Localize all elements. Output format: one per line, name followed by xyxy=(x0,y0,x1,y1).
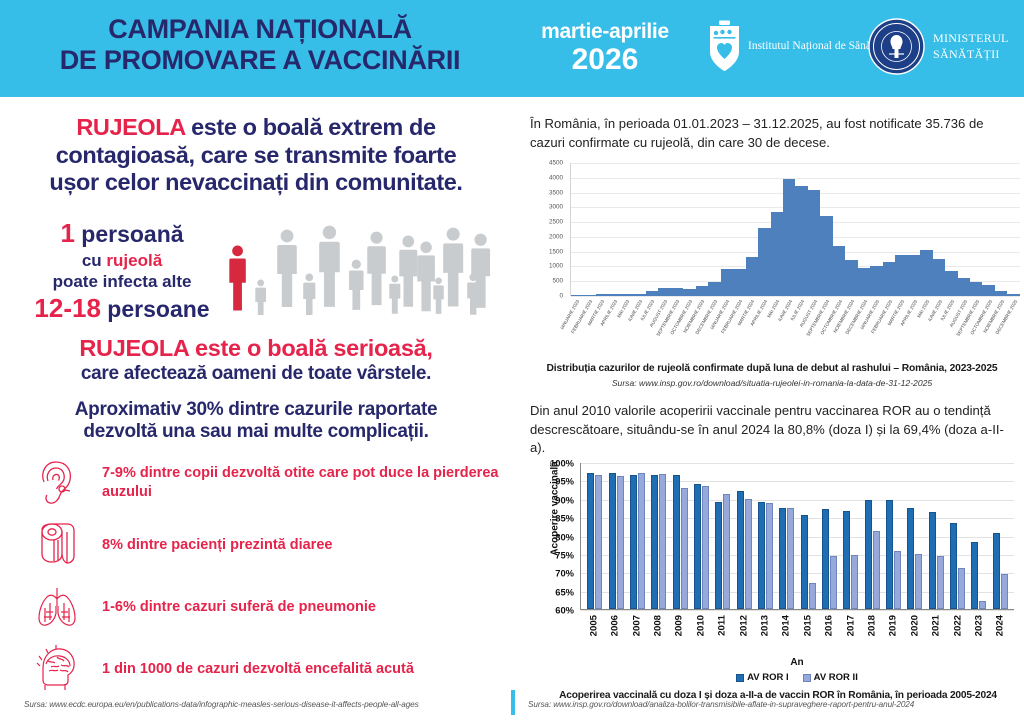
chart2-x-tick-label: 2022 xyxy=(952,615,963,636)
chart2-bar xyxy=(993,533,1000,609)
chart2-x-tick: 2010 xyxy=(690,613,711,655)
stat-with: cu xyxy=(82,251,107,270)
lead-rest: este o boală extrem de xyxy=(185,114,436,140)
toilet-paper-icon xyxy=(20,520,94,570)
chart1-bar xyxy=(571,295,583,296)
chart2-bar xyxy=(694,484,701,609)
chart2-bar xyxy=(617,476,624,609)
chart2-bar xyxy=(609,473,616,609)
chart2-x-tick: 2009 xyxy=(669,613,690,655)
chart2-bar xyxy=(971,542,978,609)
gridline xyxy=(571,296,1020,297)
chart2-x-tick: 2006 xyxy=(604,613,625,655)
chart2-x-tick: 2008 xyxy=(647,613,668,655)
chart2-bar xyxy=(979,601,986,609)
insp-logo-line2: Național de xyxy=(792,40,845,52)
chart1-x-tick: FEBRUARIE 2023 xyxy=(583,298,596,356)
chart1-bar xyxy=(721,269,733,296)
stat-disease: rujeolă xyxy=(106,251,162,270)
chart2-x-tick: 2023 xyxy=(968,613,989,655)
stat-number-one: 1 xyxy=(60,218,74,248)
chart1-bar xyxy=(870,266,882,296)
chart1-bar xyxy=(783,179,795,296)
chart2-bar-group xyxy=(627,463,648,609)
lungs-icon xyxy=(20,582,94,632)
chart2-bar-group xyxy=(669,463,690,609)
chart2-bar-group xyxy=(584,463,605,609)
chart2-bar xyxy=(787,508,794,609)
chart1-bar xyxy=(708,282,720,296)
chart2-bar-group xyxy=(712,463,733,609)
chart2-y-tick: 60% xyxy=(555,605,574,616)
legend-label: AV ROR I xyxy=(747,672,789,683)
chart2-x-tick-label: 2013 xyxy=(759,615,770,636)
chart1-x-tick: MARTIE 2024 xyxy=(745,298,758,356)
chart2-bar xyxy=(651,475,658,610)
crowd-illustration xyxy=(222,215,500,315)
chart2-bar-group xyxy=(648,463,669,609)
ministry-logo-text: MINISTERUL SĂNĂTĂȚII xyxy=(933,31,1009,62)
complication-text: 1-6% dintre cazuri suferă de pneumonie xyxy=(94,598,376,617)
chart1-bar xyxy=(895,255,907,296)
chart1-x-tick: FEBRUARIE 2024 xyxy=(733,298,746,356)
chart2-y-tick: 90% xyxy=(555,494,574,505)
chart1-y-tick: 1500 xyxy=(549,248,563,255)
chart2-bar xyxy=(937,556,944,609)
stat-line-2: cu rujeolă xyxy=(8,250,236,271)
stat-line-3: poate infecta alte xyxy=(8,271,236,292)
legend-swatch xyxy=(803,674,811,682)
chart1-x-tick: MAI 2023 xyxy=(620,298,633,356)
chart2-x-tick-label: 2014 xyxy=(781,615,792,636)
chart2-x-axis-title: An xyxy=(580,657,1014,668)
chart2-bar-group xyxy=(861,463,882,609)
chart1-y-tick: 2000 xyxy=(549,233,563,240)
serious-line3: Aproximativ 30% dintre cazurile raportat… xyxy=(14,399,498,422)
chart1-x-tick: MARTIE 2025 xyxy=(895,298,908,356)
chart2-bar xyxy=(865,500,872,609)
chart1-bar xyxy=(833,246,845,296)
chart2-plot-area xyxy=(580,463,1014,610)
chart2-x-tick: 2022 xyxy=(947,613,968,655)
chart1-bar xyxy=(883,262,895,296)
chart2-x-tick: 2024 xyxy=(990,613,1011,655)
list-item: 1-6% dintre cazuri suferă de pneumonie xyxy=(20,581,500,633)
chart1-plot-area xyxy=(570,163,1020,296)
chart2-x-tick-label: 2008 xyxy=(652,615,663,636)
chart1-x-tick: APRILIE 2023 xyxy=(608,298,621,356)
chart2-bar xyxy=(801,515,808,609)
chart1-bar xyxy=(771,212,783,296)
serious-line1: RUJEOLA este o boală serioasă, xyxy=(14,335,498,363)
complications-list: 7-9% dintre copii dezvoltă otite care po… xyxy=(20,457,500,705)
chart2-bar xyxy=(915,554,922,609)
chart2-y-tick: 85% xyxy=(555,513,574,524)
complication-text: 7-9% dintre copii dezvoltă otite care po… xyxy=(94,464,500,502)
chart1-x-tick: APRILIE 2025 xyxy=(908,298,921,356)
chart1-bar xyxy=(608,294,620,296)
chart1-y-tick: 1000 xyxy=(549,263,563,270)
left-source-note: Sursa: www.ecdc.europa.eu/en/publication… xyxy=(24,700,494,709)
chart2-bar xyxy=(587,473,594,609)
chart2-x-tick: 2017 xyxy=(840,613,861,655)
lead-line3: ușor celor nevaccinați din comunitate. xyxy=(14,169,498,197)
chart1-bar xyxy=(646,291,658,296)
chart2-bar xyxy=(950,523,957,609)
chart1-bar xyxy=(858,268,870,296)
chart1-bars xyxy=(571,163,1020,296)
chart2-bar xyxy=(737,491,744,609)
campaign-title-line1: CAMPANIA NAȚIONALĂ xyxy=(20,14,500,45)
chart2-x-tick-label: 2023 xyxy=(974,615,985,636)
chart2-bar-group xyxy=(968,463,989,609)
chart2-bar xyxy=(958,568,965,609)
chart1-bar xyxy=(933,259,945,296)
chart2-bar xyxy=(907,508,914,609)
chart2-x-tick-label: 2009 xyxy=(674,615,685,636)
government-seal-icon xyxy=(868,18,925,75)
chart2-bar xyxy=(766,503,773,609)
campaign-title: CAMPANIA NAȚIONALĂ DE PROMOVARE A VACCIN… xyxy=(20,14,500,77)
chart2-bar-groups xyxy=(581,463,1014,609)
chart1-x-tick: MARTIE 2023 xyxy=(595,298,608,356)
chart2-x-tick: 2014 xyxy=(776,613,797,655)
serious-line4: dezvoltă una sau mai multe complicații. xyxy=(14,421,498,444)
complication-text: 1 din 1000 de cazuri dezvoltă encefalită… xyxy=(94,660,414,679)
chart2-x-tick-label: 2018 xyxy=(866,615,877,636)
chart1-y-tick: 500 xyxy=(552,278,563,285)
chart1-source: Sursa: www.insp.gov.ro/download/situatia… xyxy=(522,378,1022,388)
chart1-bar xyxy=(808,190,820,296)
chart2-y-axis-labels: 60%65%70%75%80%85%90%95%100% xyxy=(530,459,576,610)
list-item: 1 din 1000 de cazuri dezvoltă encefalită… xyxy=(20,643,500,695)
chart2-bar-group xyxy=(691,463,712,609)
chart2-x-tick: 2005 xyxy=(583,613,604,655)
chart1-x-tick: IUNIE 2025 xyxy=(933,298,946,356)
insp-logo-line1: Institutul xyxy=(748,40,790,52)
chart1-y-tick: 2500 xyxy=(549,219,563,226)
chart1-bar xyxy=(671,288,683,296)
chart2-x-tick: 2021 xyxy=(926,613,947,655)
chart2-x-tick-label: 2007 xyxy=(631,615,642,636)
brain-head-icon xyxy=(20,644,94,694)
chart2-y-tick: 95% xyxy=(555,476,574,487)
chart1-bar xyxy=(633,294,645,296)
chart2-y-tick: 70% xyxy=(555,568,574,579)
campaign-period: martie-aprilie 2026 xyxy=(512,20,698,76)
chart2-x-tick-label: 2021 xyxy=(931,615,942,636)
chart2-bar xyxy=(886,500,893,609)
chart2-bar-group xyxy=(605,463,626,609)
lead-line2: contagioasă, care se transmite foarte xyxy=(14,142,498,170)
chart2-x-tick-label: 2019 xyxy=(888,615,899,636)
chart2-bar xyxy=(673,475,680,609)
chart2-y-tick: 75% xyxy=(555,549,574,560)
chart2-x-tick: 2012 xyxy=(733,613,754,655)
chart2-bar xyxy=(681,488,688,609)
chart2-bar xyxy=(873,531,880,609)
chart2-x-tick-label: 2017 xyxy=(845,615,856,636)
chart1-x-tick: IUNIE 2024 xyxy=(783,298,796,356)
chart1-x-axis-labels: IANUARIE 2023FEBRUARIE 2023MARTIE 2023AP… xyxy=(570,298,1020,356)
chart2-bar xyxy=(715,502,722,609)
chart2-bar xyxy=(758,502,765,609)
chart2-bar-group xyxy=(926,463,947,609)
ear-icon xyxy=(20,458,94,508)
chart1-x-tick: MAI 2025 xyxy=(920,298,933,356)
chart2-bar-group xyxy=(797,463,818,609)
chart2-x-tick-label: 2015 xyxy=(802,615,813,636)
serious-statement: RUJEOLA este o boală serioasă, care afec… xyxy=(14,335,498,444)
complication-text: 8% dintre pacienți prezintă diaree xyxy=(94,536,332,555)
chart2-x-tick-label: 2016 xyxy=(824,615,835,636)
legend-label: AV ROR II xyxy=(814,672,858,683)
chart2-bar xyxy=(745,499,752,609)
chart1-bar xyxy=(746,257,758,296)
legend-swatch xyxy=(736,674,744,682)
chart2-bar-group xyxy=(883,463,904,609)
chart1-x-tick: FEBRUARIE 2025 xyxy=(883,298,896,356)
chart1-bar xyxy=(596,294,608,296)
chart2-x-tick: 2019 xyxy=(883,613,904,655)
chart1-bar xyxy=(621,294,633,296)
list-item: 7-9% dintre copii dezvoltă otite care po… xyxy=(20,457,500,509)
chart1-bar xyxy=(758,228,770,296)
campaign-period-months: martie-aprilie xyxy=(512,20,698,43)
chart2-bar xyxy=(630,475,637,609)
right-source-note: Sursa: www.insp.gov.ro/download/analiza-… xyxy=(528,700,1018,709)
serious-line2: care afectează oameni de toate vârstele. xyxy=(14,363,498,386)
chart1-bar xyxy=(696,286,708,296)
chart2-bar xyxy=(702,486,709,609)
chart2-bar xyxy=(659,474,666,609)
header-banner: CAMPANIA NAȚIONALĂ DE PROMOVARE A VACCIN… xyxy=(0,0,1024,97)
chart2-x-tick-label: 2005 xyxy=(588,615,599,636)
chart2-bar xyxy=(638,473,645,609)
chart1-x-tick: IUNIE 2023 xyxy=(633,298,646,356)
chart1-bar xyxy=(995,291,1007,296)
chart1-bar xyxy=(658,288,670,296)
stat-line-4: 12-18 persoane xyxy=(8,293,236,324)
chart1-bar xyxy=(945,271,957,296)
chart2-bar-group xyxy=(947,463,968,609)
shield-icon xyxy=(708,19,741,74)
chart2-bar xyxy=(929,512,936,609)
chart2-bar-group xyxy=(840,463,861,609)
chart2-bar xyxy=(595,475,602,609)
chart1-bar xyxy=(908,255,920,296)
chart1-x-tick: MAI 2024 xyxy=(770,298,783,356)
left-column: RUJEOLA este o boală extrem de contagioa… xyxy=(0,97,512,724)
chart2-bar-group xyxy=(990,463,1011,609)
chart2-bar xyxy=(830,556,837,609)
chart2-bar xyxy=(723,494,730,609)
chart1-y-tick: 4000 xyxy=(549,174,563,181)
chart2-bar-group xyxy=(733,463,754,609)
chart1-y-tick: 3000 xyxy=(549,204,563,211)
right-column: În România, în perioada 01.01.2023 – 31.… xyxy=(512,97,1024,724)
chart2-bar-group xyxy=(776,463,797,609)
stat-line-1: 1 persoană xyxy=(8,219,236,249)
chart1-y-tick: 4500 xyxy=(549,160,563,167)
ministry-logo-line2: SĂNĂTĂȚII xyxy=(933,47,1009,63)
chart2-legend: AV ROR IAV ROR II xyxy=(580,672,1014,683)
stat-number-range: 12-18 xyxy=(34,293,101,323)
measles-monthly-chart: 050010001500200025003000350040004500 IAN… xyxy=(522,159,1022,359)
coverage-intro-text: Din anul 2010 valorile acoperirii vaccin… xyxy=(530,402,1008,458)
chart2-bar-group xyxy=(819,463,840,609)
ror-coverage-chart: Acoperire vaccinală 60%65%70%75%80%85%90… xyxy=(522,459,1022,709)
chart1-bar xyxy=(970,282,982,296)
chart2-y-tick: 80% xyxy=(555,531,574,542)
transmission-stat: 1 persoană cu rujeolă poate infecta alte… xyxy=(8,219,236,325)
chart1-bar xyxy=(583,295,595,296)
chart2-x-tick-label: 2011 xyxy=(717,615,728,636)
infographic-page: CAMPANIA NAȚIONALĂ DE PROMOVARE A VACCIN… xyxy=(0,0,1024,724)
gridline xyxy=(581,610,1014,611)
chart2-x-tick: 2007 xyxy=(626,613,647,655)
measles-intro-text: În România, în perioada 01.01.2023 – 31.… xyxy=(530,115,1016,152)
chart2-x-tick-label: 2020 xyxy=(909,615,920,636)
ministry-logo-line1: MINISTERUL xyxy=(933,31,1009,47)
lead-statement: RUJEOLA este o boală extrem de contagioa… xyxy=(14,114,498,197)
chart1-caption: Distribuția cazurilor de rujeolă confirm… xyxy=(522,363,1022,374)
chart1-bar xyxy=(683,289,695,296)
chart2-bar xyxy=(894,551,901,609)
chart2-bar xyxy=(1001,574,1008,609)
chart2-bar-group xyxy=(904,463,925,609)
chart2-x-axis-labels: 2005200620072008200920102011201220132014… xyxy=(580,613,1014,655)
chart1-bar xyxy=(920,250,932,296)
chart1-y-axis-labels: 050010001500200025003000350040004500 xyxy=(522,159,566,296)
chart2-x-tick-label: 2006 xyxy=(610,615,621,636)
ministry-logo: MINISTERUL SĂNĂTĂȚII xyxy=(868,18,1009,75)
chart1-bar xyxy=(820,216,832,296)
chart2-x-tick: 2020 xyxy=(904,613,925,655)
list-item: 8% dintre pacienți prezintă diaree xyxy=(20,519,500,571)
stat-word-people: persoane xyxy=(101,296,210,322)
chart1-x-tick: APRILIE 2024 xyxy=(758,298,771,356)
lead-keyword: RUJEOLA xyxy=(76,114,185,140)
campaign-title-line2: DE PROMOVARE A VACCINĂRII xyxy=(20,45,500,76)
chart2-y-tick: 65% xyxy=(555,586,574,597)
campaign-period-year: 2026 xyxy=(512,44,698,76)
stat-word-person: persoană xyxy=(75,221,184,247)
chart1-bar xyxy=(1007,294,1019,296)
chart2-x-tick: 2013 xyxy=(754,613,775,655)
chart1-bar xyxy=(845,260,857,296)
chart2-bar xyxy=(779,508,786,609)
chart2-x-tick-label: 2012 xyxy=(738,615,749,636)
chart1-bar xyxy=(982,285,994,296)
chart2-x-tick: 2016 xyxy=(818,613,839,655)
chart2-bar xyxy=(822,509,829,609)
chart2-x-tick: 2011 xyxy=(711,613,732,655)
chart2-bar-group xyxy=(755,463,776,609)
chart2-x-tick-label: 2010 xyxy=(695,615,706,636)
chart2-bar xyxy=(809,583,816,609)
chart2-x-tick-label: 2024 xyxy=(995,615,1006,636)
chart2-legend-item: AV ROR II xyxy=(803,672,858,683)
chart1-x-tick: DECEMBRIE 2025 xyxy=(1008,298,1021,356)
chart2-x-tick: 2018 xyxy=(861,613,882,655)
chart1-bar xyxy=(733,269,745,296)
chart2-bar xyxy=(843,511,850,609)
chart1-bar xyxy=(958,278,970,296)
chart2-x-tick: 2015 xyxy=(797,613,818,655)
chart2-bar xyxy=(851,555,858,609)
chart2-legend-item: AV ROR I xyxy=(736,672,789,683)
chart2-y-tick: 100% xyxy=(550,458,574,469)
chart1-y-tick: 3500 xyxy=(549,189,563,196)
chart1-y-tick: 0 xyxy=(559,293,563,300)
chart1-bar xyxy=(795,186,807,296)
